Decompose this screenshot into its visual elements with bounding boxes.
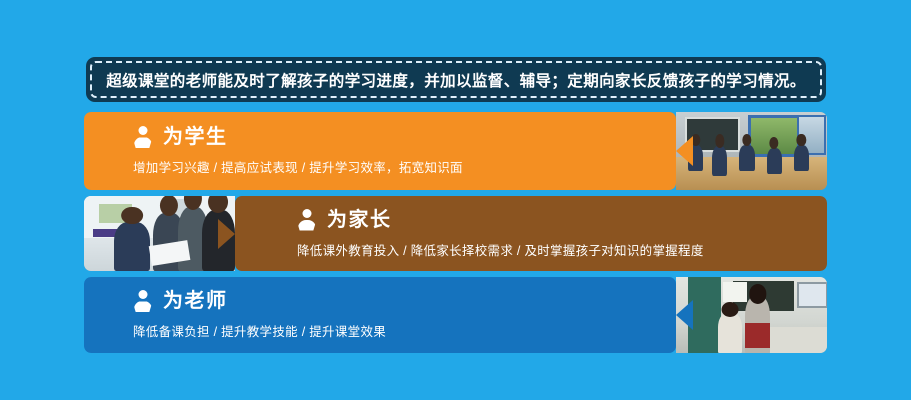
band-notch-parents <box>218 219 235 249</box>
band-notch-students <box>676 136 693 166</box>
band-text-students: 为学生 增加学习兴趣 / 提高应试表现 / 提升学习效率，拓宽知识面 <box>133 112 463 190</box>
teacher-tutoring-student-photo <box>676 277 827 353</box>
band-text-teachers: 为老师 降低备课负担 / 提升教学技能 / 提升课堂效果 <box>133 277 386 353</box>
band-notch-teachers <box>676 300 693 330</box>
band-subtitle-students: 增加学习兴趣 / 提高应试表现 / 提升学习效率，拓宽知识面 <box>133 157 463 176</box>
benefit-band-teachers[interactable]: 为老师 降低备课负担 / 提升教学技能 / 提升课堂效果 <box>84 277 827 353</box>
band-subtitle-teachers: 降低备课负担 / 提升教学技能 / 提升课堂效果 <box>133 321 386 340</box>
band-subtitle-parents: 降低课外教育投入 / 降低家长择校需求 / 及时掌握孩子对知识的掌握程度 <box>297 240 704 259</box>
headline-text: 超级课堂的老师能及时了解孩子的学习进度，并加以监督、辅导；定期向家长反馈孩子的学… <box>106 69 806 91</box>
person-icon <box>133 126 152 148</box>
headline-banner: 超级课堂的老师能及时了解孩子的学习进度，并加以监督、辅导；定期向家长反馈孩子的学… <box>86 57 826 102</box>
person-icon <box>297 209 316 231</box>
benefit-band-parents[interactable]: 为家长 降低课外教育投入 / 降低家长择校需求 / 及时掌握孩子对知识的掌握程度 <box>84 196 827 271</box>
benefit-band-students[interactable]: 为学生 增加学习兴趣 / 提高应试表现 / 提升学习效率，拓宽知识面 <box>84 112 827 190</box>
band-title-parents: 为家长 <box>327 210 392 230</box>
parents-consultation-photo <box>84 196 235 271</box>
person-icon <box>133 290 152 312</box>
band-text-parents: 为家长 降低课外教育投入 / 降低家长择校需求 / 及时掌握孩子对知识的掌握程度 <box>297 196 704 271</box>
band-title-students: 为学生 <box>163 127 228 147</box>
infographic-banner: 超级课堂的老师能及时了解孩子的学习进度，并加以监督、辅导；定期向家长反馈孩子的学… <box>0 0 911 400</box>
classroom-students-photo <box>676 112 827 190</box>
band-title-teachers: 为老师 <box>163 291 228 311</box>
